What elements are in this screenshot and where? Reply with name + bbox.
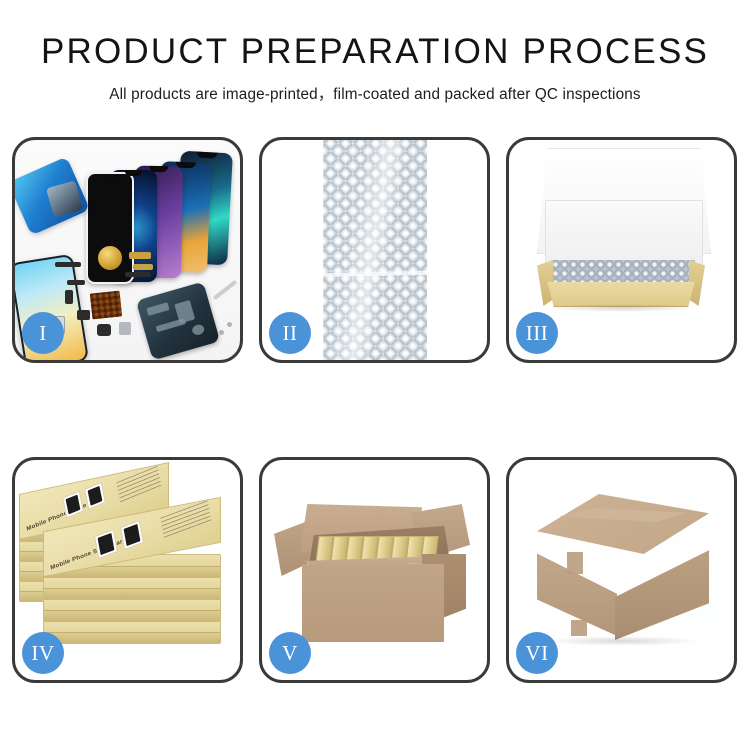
box-screen-img-2a [94, 529, 118, 559]
step-badge-4: IV [22, 632, 64, 674]
step-badge-1: I [22, 312, 64, 354]
box-spec-lines-2 [160, 500, 211, 540]
carton-tape-upper [567, 552, 583, 574]
part-charging-port [97, 324, 111, 336]
step-panel-1: I [12, 137, 243, 363]
box-shadow [545, 304, 699, 312]
box-screen-img-1a [62, 491, 84, 519]
page-title: PRODUCT PREPARATION PROCESS [0, 34, 750, 71]
box-screen-img-2b [120, 520, 144, 550]
bubble-wrap-sheen [323, 140, 427, 360]
part-antenna-cable [67, 280, 85, 285]
box-inner-wall [545, 200, 703, 268]
process-steps-grid: I II III [12, 137, 738, 683]
speaker-module [98, 246, 122, 270]
step-panel-4: Mobile Phone Spare Parts Mobile Phone Sp… [12, 457, 243, 683]
part-flex-cable [55, 262, 81, 267]
phone-backplate [136, 282, 220, 360]
box-stack-front-3 [43, 576, 221, 600]
step-panel-5: V [259, 457, 490, 683]
step-badge-2: II [269, 312, 311, 354]
step-panel-6: VI [506, 457, 737, 683]
part-home-flex [65, 290, 73, 304]
part-tweezers [213, 280, 238, 300]
step-badge-5: V [269, 632, 311, 674]
box-stack-front-4 [43, 598, 221, 622]
step-badge-6: VI [516, 632, 558, 674]
bubble-wrap-sheet [323, 140, 427, 360]
page-subtitle: All products are image-printed，film-coat… [0, 82, 750, 104]
blue-adhesive-film [15, 156, 90, 235]
box-screen-img-1b [84, 482, 106, 510]
box-spec-lines-1 [116, 466, 161, 503]
page-header: PRODUCT PREPARATION PROCESS All products… [0, 0, 750, 104]
step-panel-2: II [259, 137, 490, 363]
step-badge-3: III [516, 312, 558, 354]
part-earpiece [125, 272, 151, 277]
part-button-flex [129, 252, 151, 259]
part-volume-flex [133, 264, 153, 270]
part-screw-a [219, 330, 224, 335]
part-vibrator [119, 322, 131, 335]
step-panel-3: III [506, 137, 737, 363]
connector-grid [90, 291, 123, 320]
part-camera-module [77, 310, 90, 320]
carton-tape-lower [571, 620, 587, 636]
part-screw-b [227, 322, 232, 327]
sealed-carton-shadow [545, 636, 701, 646]
box-stack-front-5 [43, 620, 221, 644]
carton-front-panel [302, 564, 444, 642]
